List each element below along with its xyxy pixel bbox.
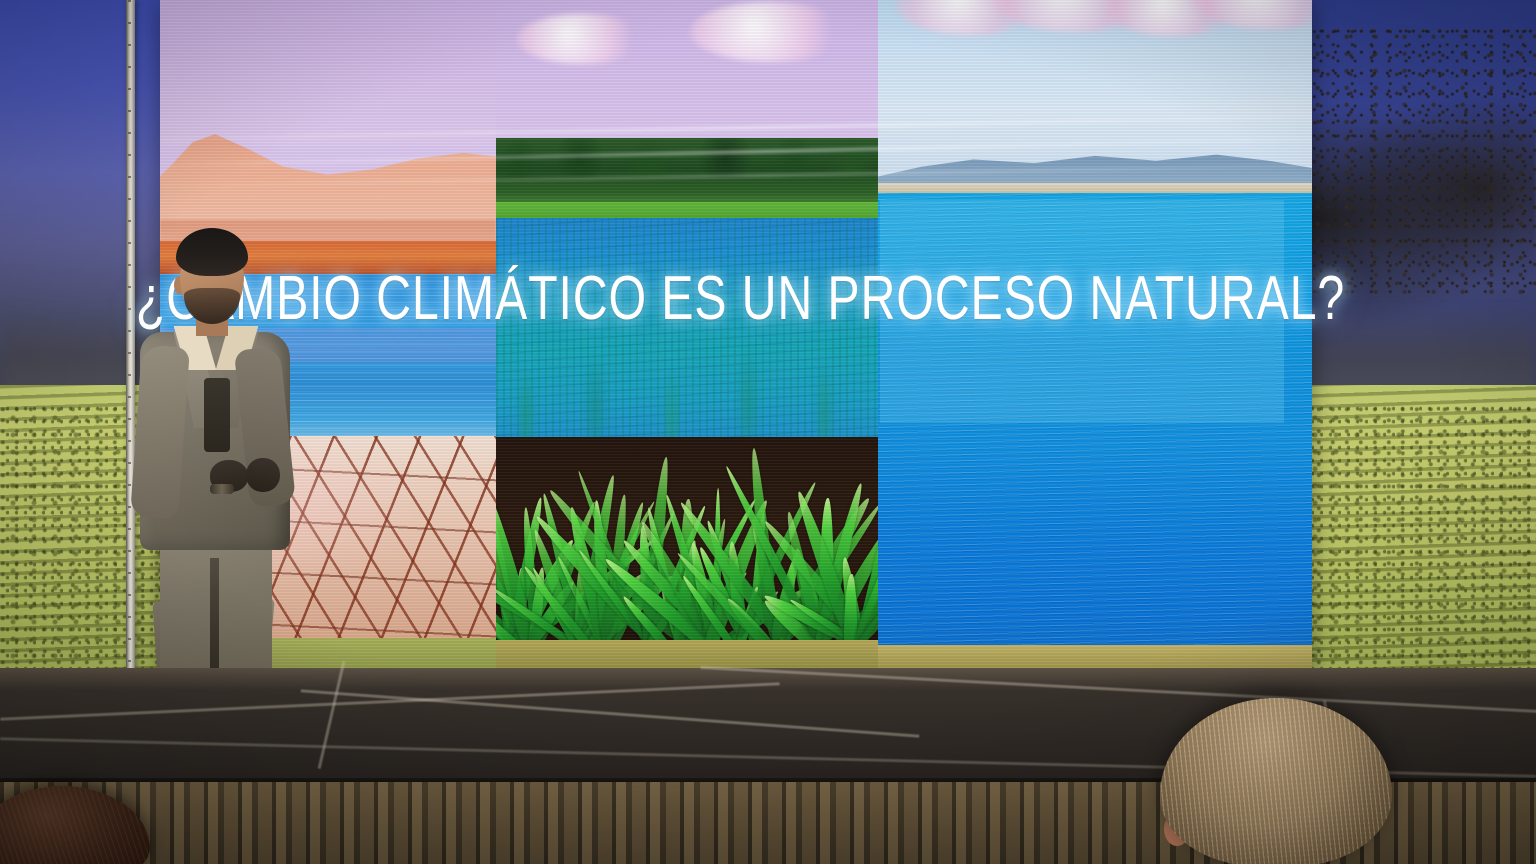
ocean-sky bbox=[878, 0, 1312, 180]
cloud-shape bbox=[517, 14, 647, 64]
corn-plants bbox=[496, 426, 878, 661]
crop-treeline bbox=[496, 138, 878, 207]
presenter-hand-right bbox=[246, 458, 280, 492]
cloud-shape bbox=[690, 2, 850, 62]
presenter-hair bbox=[176, 228, 248, 276]
presenter-beard bbox=[184, 288, 240, 324]
ocean-light-overlay-box bbox=[880, 200, 1284, 422]
crop-rows-tinted bbox=[496, 298, 878, 448]
presenter-wristwatch bbox=[210, 484, 234, 494]
presenter bbox=[118, 228, 318, 708]
presenter-jacket-opening bbox=[204, 378, 230, 452]
slide-image bbox=[160, 0, 1312, 672]
drought-sky bbox=[160, 0, 496, 146]
stage-presentation-scene: ¿CAMBIO CLIMÁTICO ES UN PROCESO NATURAL? bbox=[0, 0, 1536, 864]
cropfield-panel bbox=[496, 138, 878, 672]
ocean-panel bbox=[878, 0, 1312, 672]
